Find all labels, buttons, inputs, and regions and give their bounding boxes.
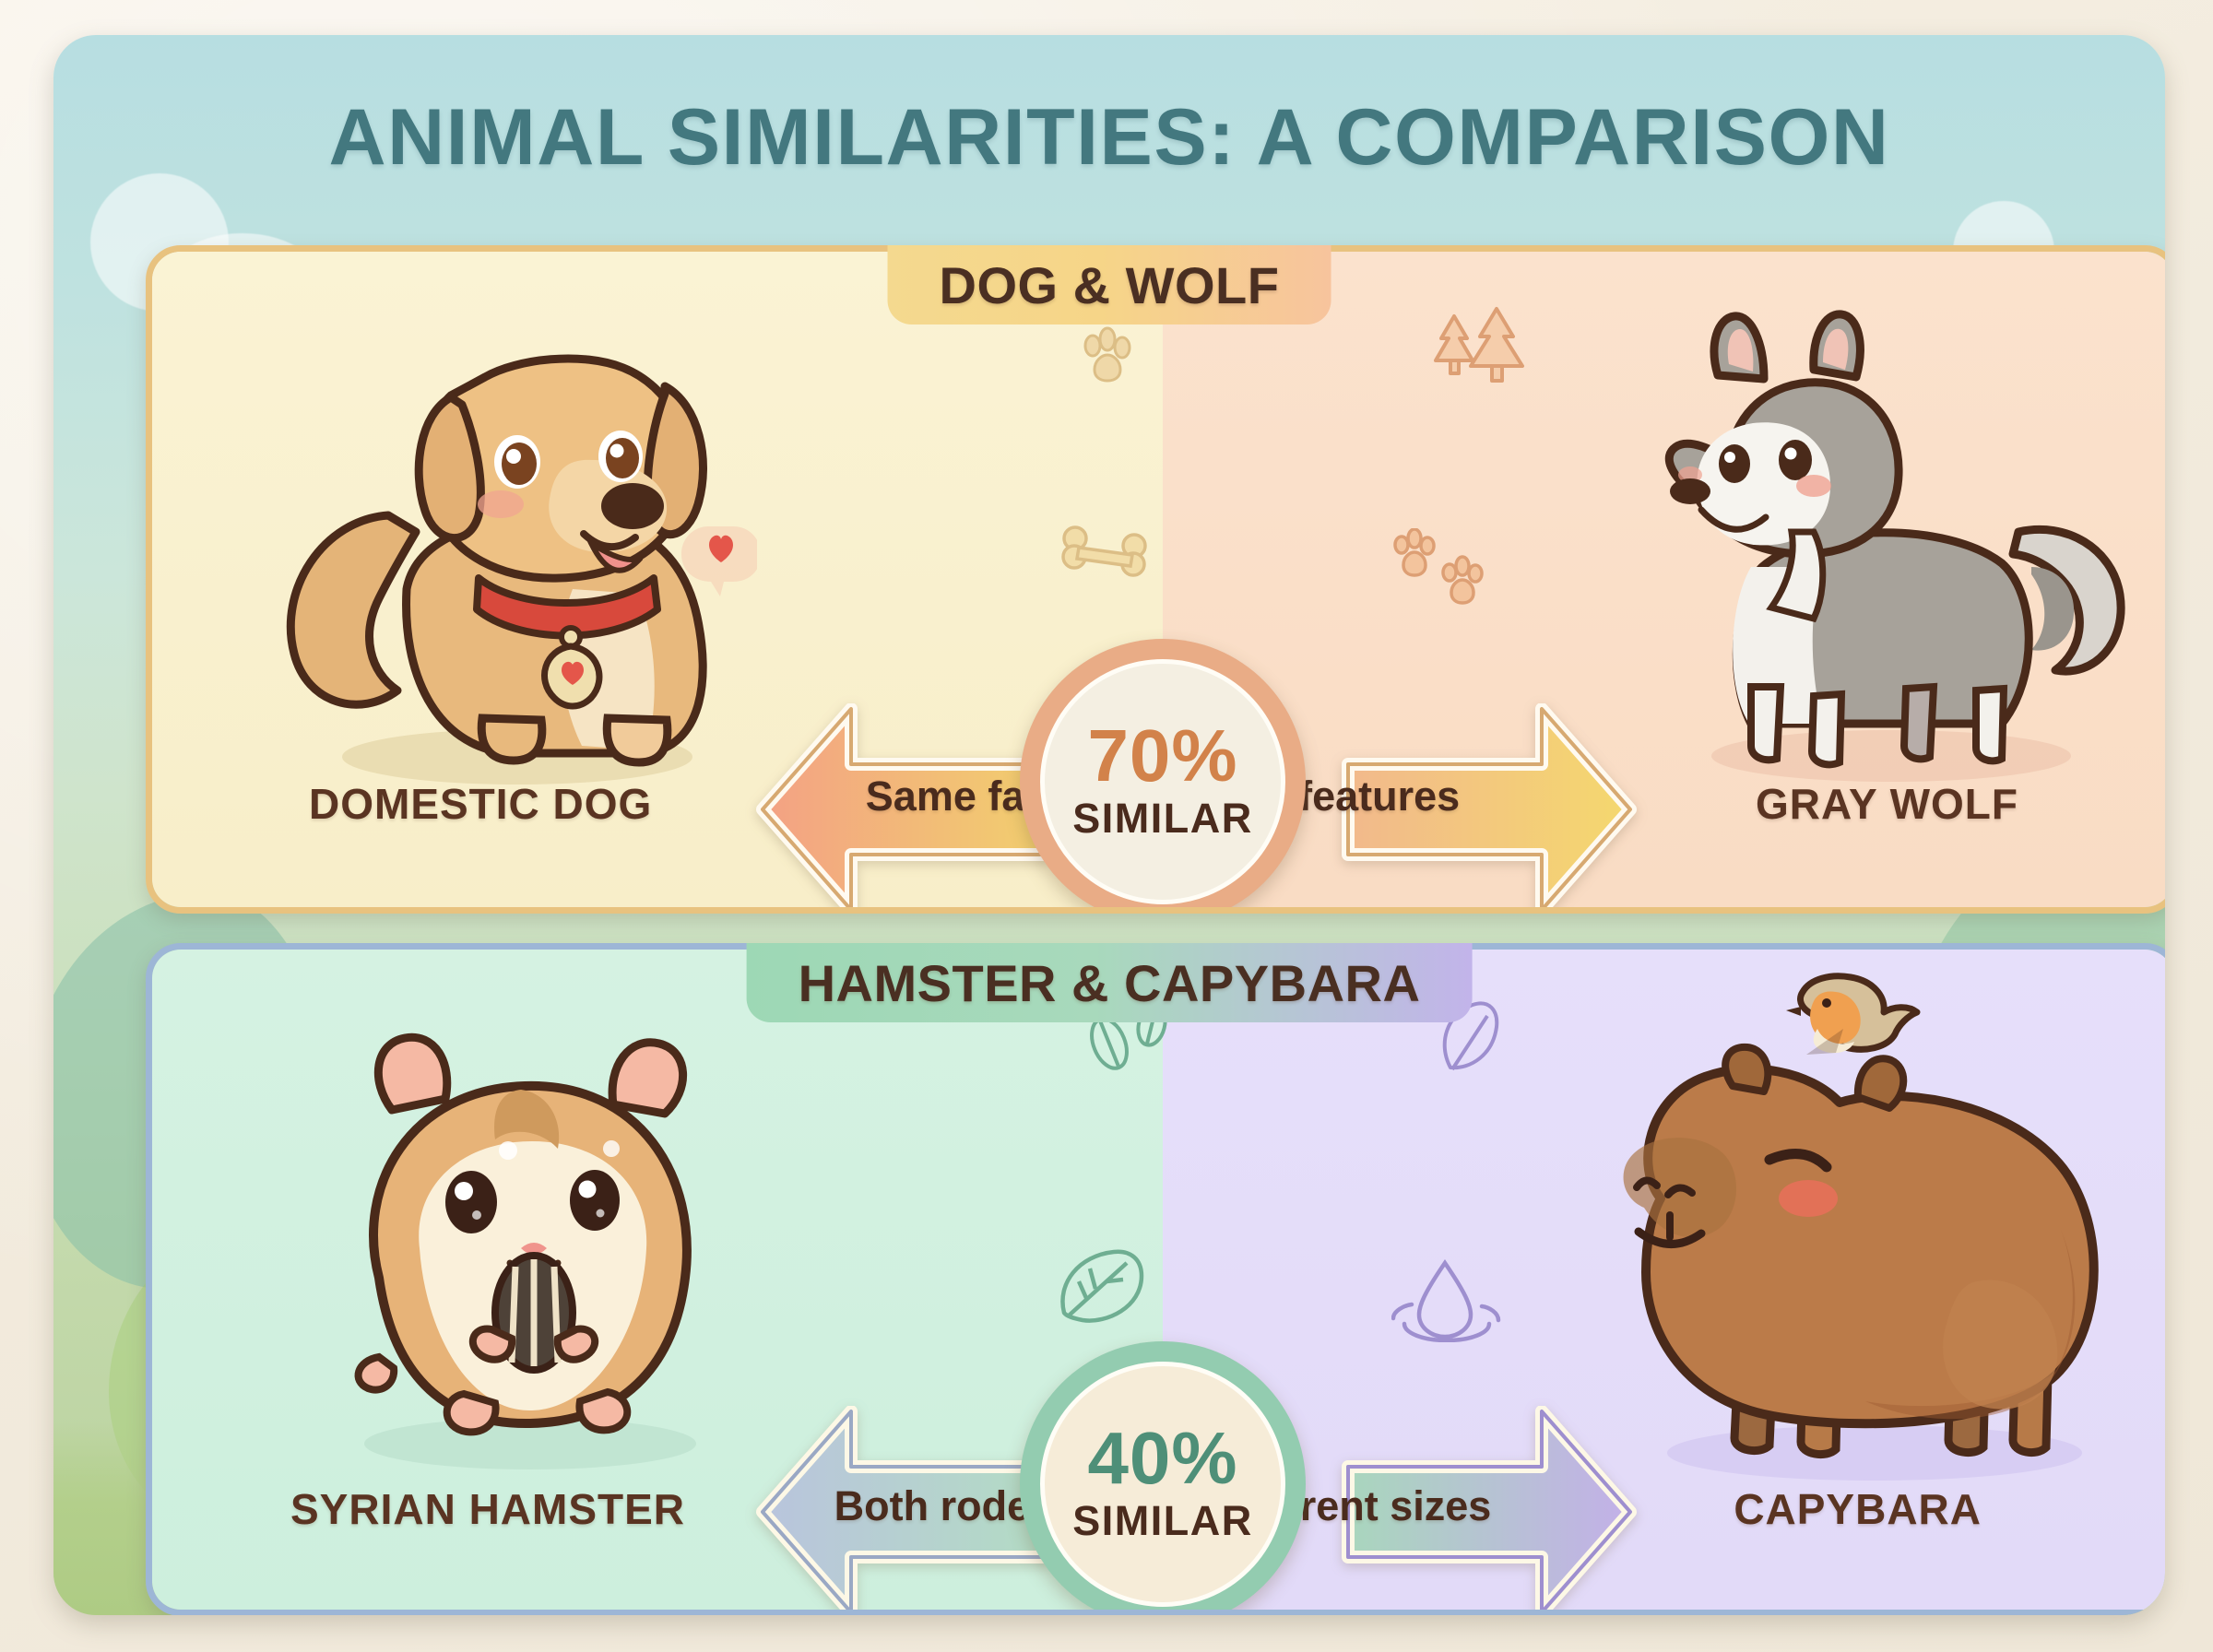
capybara-illustration (1589, 968, 2142, 1493)
domestic-dog-illustration (241, 285, 757, 801)
similarity-percent-1: 70% (1087, 721, 1237, 791)
badge-inner-1: 70% SIMILAR (1040, 659, 1285, 904)
animal-label-left-1: DOMESTIC DOG (309, 779, 652, 829)
comparison-panel-dog-wolf: DOMESTIC DOG (146, 245, 2165, 914)
panel-header-dog-wolf: DOG & WOLF (888, 245, 1331, 324)
similarity-badge-2: 40% SIMILAR (1020, 1341, 1306, 1615)
badge-inner-2: 40% SIMILAR (1040, 1362, 1285, 1607)
infographic-card: ANIMAL SIMILARITIES: A COMPARISON (53, 35, 2165, 1615)
double-paw-print-icon (1389, 528, 1509, 611)
similarity-percent-2: 40% (1087, 1423, 1237, 1493)
animal-label-right-2: CAPYBARA (1734, 1484, 1982, 1534)
comparison-panel-hamster-capybara: SYRIAN HAMSTER (146, 943, 2165, 1615)
similarity-word-2: SIMILAR (1072, 1497, 1253, 1545)
leaf-icon (1051, 1245, 1151, 1329)
panel-header-hamster-capybara: HAMSTER & CAPYBARA (747, 943, 1473, 1022)
pine-trees-icon (1430, 305, 1532, 394)
gray-wolf-illustration (1633, 290, 2149, 797)
similarity-badge-1: 70% SIMILAR (1020, 639, 1306, 914)
bone-icon (1060, 524, 1149, 581)
syrian-hamster-illustration (290, 1001, 770, 1481)
similarity-word-1: SIMILAR (1072, 795, 1253, 843)
paw-print-icon (1074, 325, 1139, 390)
animal-label-right-1: GRAY WOLF (1756, 779, 2018, 829)
page-title: ANIMAL SIMILARITIES: A COMPARISON (53, 92, 2165, 183)
animal-label-left-2: SYRIAN HAMSTER (290, 1484, 685, 1534)
water-droplet-icon (1391, 1254, 1502, 1342)
